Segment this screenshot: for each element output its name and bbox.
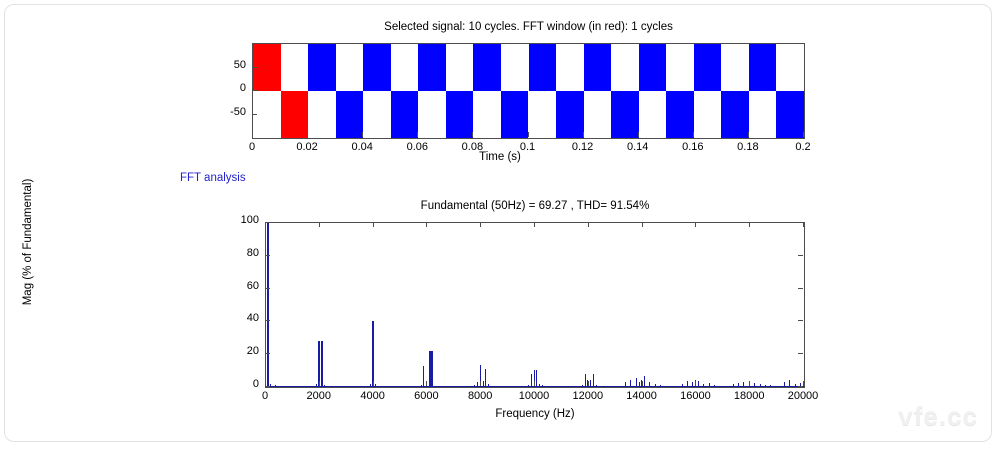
fft-x-tick-label: 14000	[612, 390, 672, 402]
fft-bar	[431, 351, 433, 387]
watermark: vfe.cc	[898, 401, 978, 432]
fft-y-tick-right	[798, 288, 803, 289]
fft-y-tick	[265, 353, 270, 354]
signal-x-tick	[638, 132, 639, 137]
fft-x-tick-top	[265, 222, 266, 227]
fft-x-tick	[803, 381, 804, 386]
signal-half-cycle	[391, 91, 419, 138]
signal-half-cycle	[584, 44, 612, 91]
signal-x-tick-label: 0.04	[336, 141, 388, 153]
fft-bar	[423, 366, 424, 387]
signal-x-tick-label: 0.1	[502, 141, 554, 153]
fft-y-tick-right	[798, 320, 803, 321]
signal-x-tick-label: 0.14	[612, 141, 664, 153]
signal-y-tick	[252, 67, 257, 68]
signal-half-cycle	[418, 44, 446, 91]
fft-x-tick-top	[588, 222, 589, 227]
signal-half-cycle	[694, 44, 722, 91]
signal-half-cycle	[749, 44, 777, 91]
fft-x-axis-label: Frequency (Hz)	[265, 408, 805, 420]
signal-y-tick-label: 50	[218, 59, 246, 71]
signal-x-tick	[583, 132, 584, 137]
signal-x-tick-label: 0.02	[281, 141, 333, 153]
fft-y-tick-label: 80	[231, 247, 259, 259]
fft-y-tick-label: 0	[231, 378, 259, 390]
signal-half-cycle	[336, 91, 364, 138]
signal-y-tick	[252, 114, 257, 115]
fft-x-tick-top	[642, 222, 643, 227]
signal-x-tick-label: 0.06	[391, 141, 443, 153]
signal-x-tick	[362, 132, 363, 137]
signal-x-tick	[417, 132, 418, 137]
signal-half-cycle	[556, 91, 584, 138]
signal-x-axis-label: Time (s)	[0, 151, 1000, 163]
fft-spectrum-plot	[265, 222, 805, 388]
signal-y-tick	[252, 90, 257, 91]
fft-x-tick-top	[749, 222, 750, 227]
fft-y-axis-label: Mag (% of Fundamental)	[22, 162, 34, 322]
signal-half-cycle	[363, 44, 391, 91]
fft-x-tick	[642, 381, 643, 386]
fft-x-tick-label: 18000	[719, 390, 779, 402]
signal-half-cycle	[473, 44, 501, 91]
signal-x-tick	[748, 132, 749, 137]
signal-half-cycle	[529, 44, 557, 91]
signal-x-tick	[307, 132, 308, 137]
page-root: Selected signal: 10 cycles. FFT window (…	[0, 0, 1000, 450]
signal-x-tick-label: 0.08	[446, 141, 498, 153]
signal-y-tick-label: -50	[218, 106, 246, 118]
signal-plot-title: Selected signal: 10 cycles. FFT window (…	[252, 21, 805, 33]
fft-bar	[372, 321, 374, 387]
fft-bar	[536, 370, 537, 387]
signal-half-cycle	[639, 44, 667, 91]
fft-x-tick	[373, 381, 374, 386]
fft-y-tick-right	[798, 255, 803, 256]
fft-x-tick-top	[534, 222, 535, 227]
signal-half-cycle	[611, 91, 639, 138]
signal-half-cycle	[776, 91, 804, 138]
fft-x-tick	[426, 381, 427, 386]
fft-x-tick-label: 0	[235, 390, 295, 402]
fft-y-tick	[265, 288, 270, 289]
signal-half-cycle	[281, 91, 309, 138]
signal-half-cycle	[253, 44, 281, 91]
signal-x-tick	[252, 132, 253, 137]
fft-x-tick	[749, 381, 750, 386]
fft-bar	[321, 341, 323, 387]
fft-y-tick-label: 40	[231, 312, 259, 324]
signal-x-tick-label: 0.16	[667, 141, 719, 153]
signal-x-tick	[528, 132, 529, 137]
fft-x-tick	[480, 381, 481, 386]
signal-x-tick-label: 0	[226, 141, 278, 153]
fft-x-tick	[534, 381, 535, 386]
fft-y-tick-right	[798, 353, 803, 354]
signal-half-cycle	[501, 91, 529, 138]
signal-half-cycle	[721, 91, 749, 138]
fft-x-tick-top	[373, 222, 374, 227]
fft-x-tick-label: 4000	[343, 390, 403, 402]
fft-x-tick	[265, 381, 266, 386]
fft-y-tick	[265, 320, 270, 321]
fft-x-tick-label: 16000	[665, 390, 725, 402]
signal-half-cycle	[446, 91, 474, 138]
fft-x-tick-top	[319, 222, 320, 227]
fft-y-tick-label: 100	[231, 214, 259, 226]
fft-x-tick-label: 8000	[450, 390, 510, 402]
fft-y-tick-label: 20	[231, 345, 259, 357]
fft-y-tick-right	[798, 386, 803, 387]
fft-x-tick	[319, 381, 320, 386]
fft-x-tick-top	[803, 222, 804, 227]
fft-x-tick-label: 2000	[289, 390, 349, 402]
signal-x-tick	[472, 132, 473, 137]
fft-analysis-label[interactable]: FFT analysis	[180, 172, 246, 184]
fft-x-tick	[588, 381, 589, 386]
selected-signal-plot	[252, 43, 805, 139]
fft-x-tick-top	[426, 222, 427, 227]
fft-x-tick	[695, 381, 696, 386]
signal-half-cycle	[666, 91, 694, 138]
signal-y-tick-label: 0	[218, 82, 246, 94]
fft-x-tick-label: 10000	[504, 390, 564, 402]
signal-x-tick	[803, 132, 804, 137]
signal-x-tick	[693, 132, 694, 137]
fft-x-tick-label: 6000	[396, 390, 456, 402]
fft-x-tick-top	[480, 222, 481, 227]
fft-bar	[485, 369, 486, 387]
fft-plot-title: Fundamental (50Hz) = 69.27 , THD= 91.54%	[265, 200, 805, 212]
fft-x-tick-top	[695, 222, 696, 227]
signal-half-cycle	[308, 44, 336, 91]
fft-y-tick-label: 60	[231, 280, 259, 292]
fft-x-tick-label: 12000	[558, 390, 618, 402]
signal-x-tick-label: 0.18	[722, 141, 774, 153]
fft-y-tick	[265, 386, 270, 387]
fft-x-tick-label: 20000	[773, 390, 833, 402]
fft-baseline	[266, 386, 804, 387]
signal-x-tick-label: 0.12	[557, 141, 609, 153]
signal-x-tick-label: 0.2	[777, 141, 829, 153]
fft-y-tick	[265, 255, 270, 256]
fft-bar	[267, 223, 269, 387]
